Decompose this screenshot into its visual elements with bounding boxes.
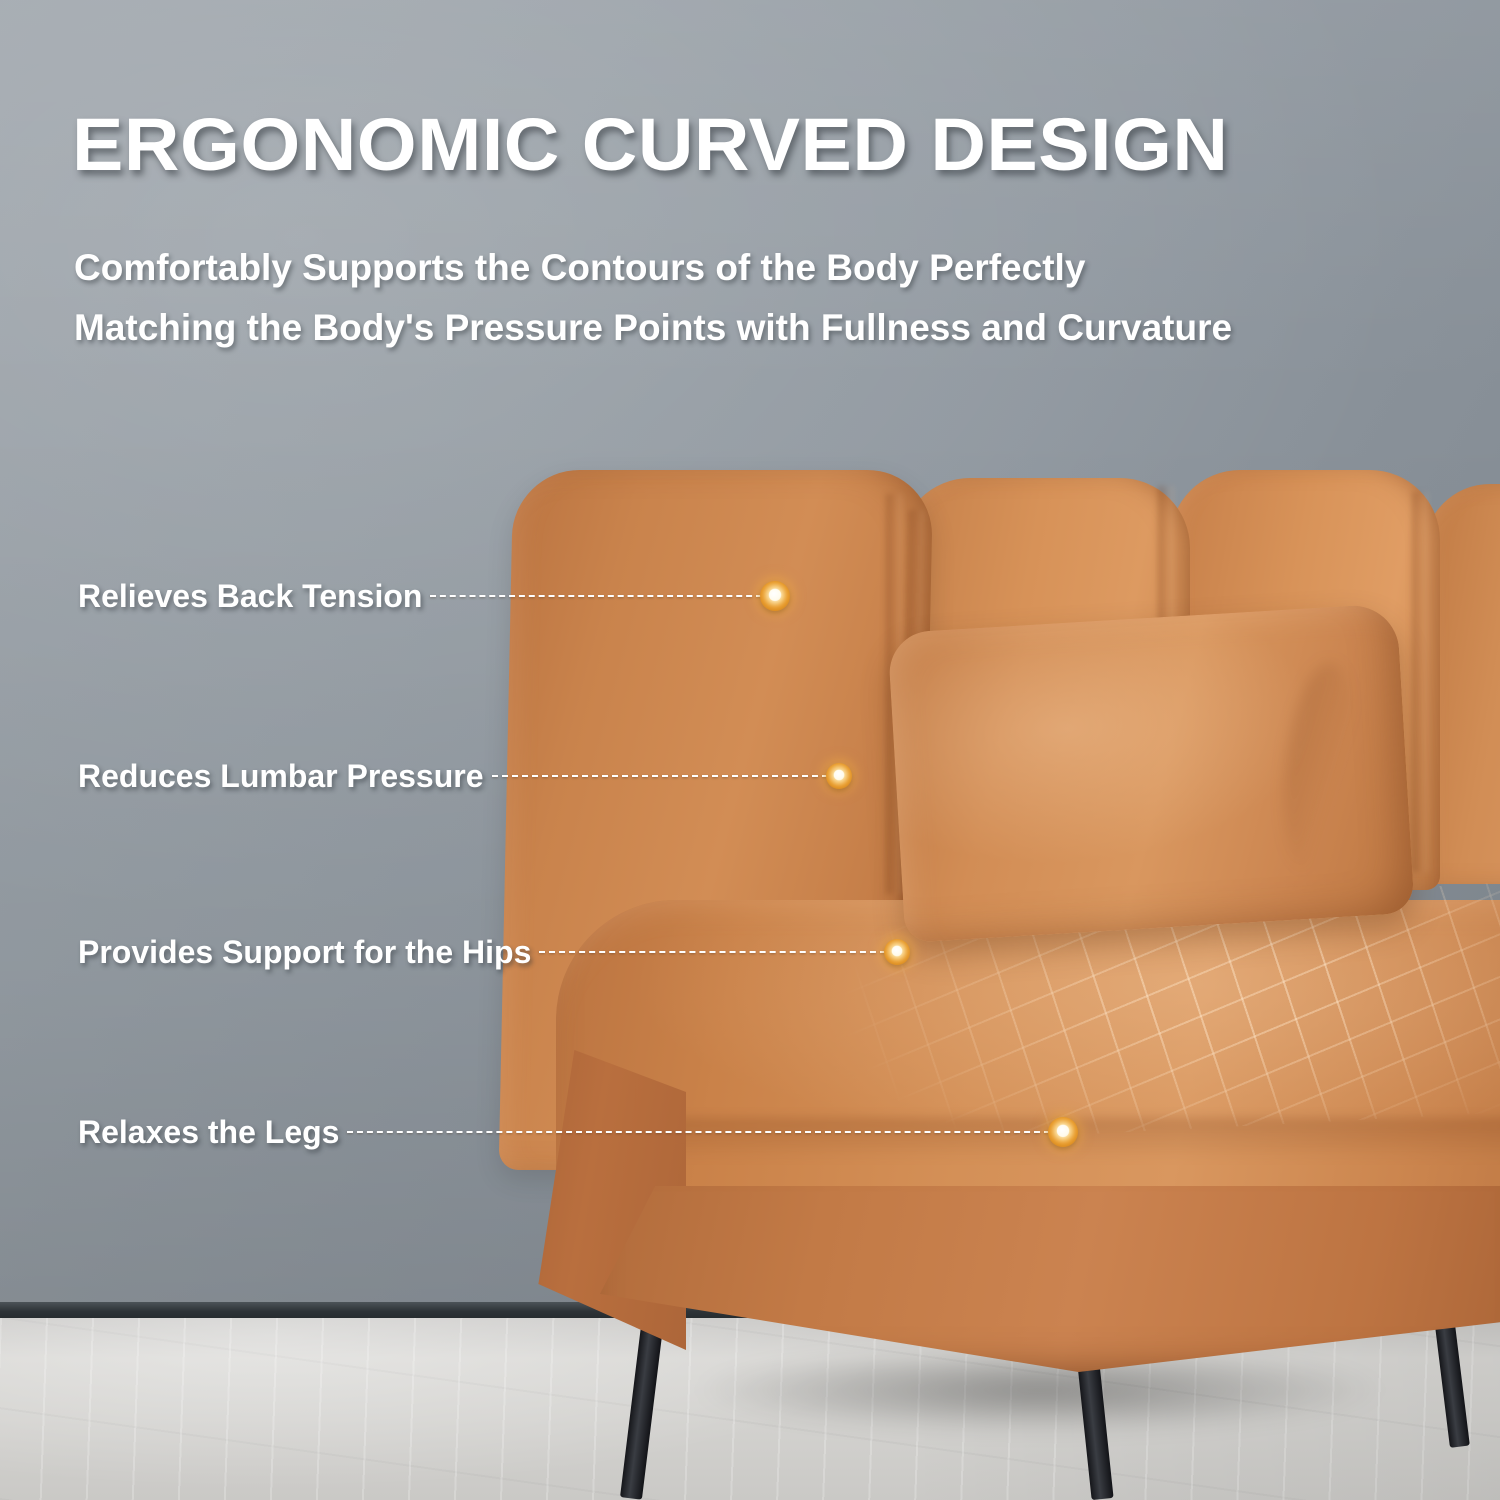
callout-reduces-lumbar-pressure: Reduces Lumbar Pressure (78, 754, 852, 798)
product-feature-image: ERGONOMIC CURVED DESIGN Comfortably Supp… (0, 0, 1500, 1500)
page-title: ERGONOMIC CURVED DESIGN (72, 108, 1486, 182)
leader-line (347, 1131, 1050, 1133)
hotspot-marker-icon[interactable] (760, 581, 790, 611)
callout-label: Reduces Lumbar Pressure (78, 758, 484, 795)
pillow-crease (1274, 659, 1364, 875)
subtitle-line-1: Comfortably Supports the Contours of the… (74, 238, 1454, 298)
callout-label: Provides Support for the Hips (78, 934, 531, 971)
leader-line (430, 595, 762, 597)
callout-provides-support-for-the-hips: Provides Support for the Hips (78, 930, 910, 974)
callout-label: Relieves Back Tension (78, 578, 422, 615)
backrest-seam-4 (1412, 492, 1428, 872)
subtitle: Comfortably Supports the Contours of the… (74, 238, 1454, 358)
callout-relieves-back-tension: Relieves Back Tension (78, 574, 790, 618)
leader-line (492, 775, 829, 777)
hotspot-marker-icon[interactable] (1048, 1117, 1078, 1147)
leader-line (539, 951, 886, 953)
callout-relaxes-the-legs: Relaxes the Legs (78, 1110, 1078, 1154)
subtitle-line-2: Matching the Body's Pressure Points with… (74, 298, 1454, 358)
hotspot-marker-icon[interactable] (884, 939, 910, 965)
lumbar-pillow (887, 603, 1414, 943)
callout-label: Relaxes the Legs (78, 1114, 339, 1151)
hotspot-marker-icon[interactable] (826, 763, 852, 789)
sofa-product (0, 0, 1500, 1500)
